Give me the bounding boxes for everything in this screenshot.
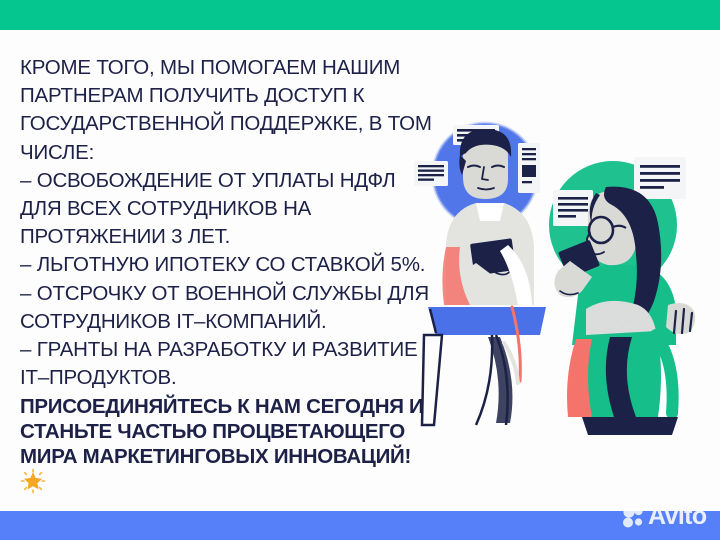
avito-watermark: Avito <box>622 504 707 529</box>
body-line: ГОСУДАРСТВЕННОЙ ПОДДЕРЖКЕ, В ТОМ <box>20 110 440 138</box>
bottom-brand-bar <box>0 511 720 540</box>
top-brand-bar <box>0 0 720 30</box>
cta-line: ПРИСОЕДИНЯЙТЕСЬ К НАМ СЕГОДНЯ И <box>20 394 460 419</box>
body-line: – ГРАНТЫ НА РАЗРАБОТКУ И РАЗВИТИЕ <box>20 336 440 364</box>
body-line: IT–ПРОДУКТОВ. <box>20 364 440 392</box>
body-line: – ОТСРОЧКУ ОТ ВОЕННОЙ СЛУЖБЫ ДЛЯ <box>20 280 440 308</box>
cta-line: МИРА МАРКЕТИНГОВЫХ ИННОВАЦИЙ! <box>20 444 460 469</box>
body-line: ДЛЯ ВСЕХ СОТРУДНИКОВ НА <box>20 195 440 223</box>
body-line: СОТРУДНИКОВ IT–КОМПАНИЙ. <box>20 308 440 336</box>
body-line: КРОМЕ ТОГО, МЫ ПОМОГАЕМ НАШИМ <box>20 54 440 82</box>
glowing-star-icon <box>20 468 46 494</box>
body-copy: КРОМЕ ТОГО, МЫ ПОМОГАЕМ НАШИМ ПАРТНЕРАМ … <box>20 54 440 392</box>
call-to-action-copy: ПРИСОЕДИНЯЙТЕСЬ К НАМ СЕГОДНЯ И СТАНЬТЕ … <box>20 394 460 469</box>
body-line: ПАРТНЕРАМ ПОЛУЧИТЬ ДОСТУП К <box>20 82 440 110</box>
cta-line: СТАНЬТЕ ЧАСТЬЮ ПРОЦВЕТАЮЩЕГО <box>20 419 460 444</box>
body-line: ЧИСЛЕ: <box>20 139 440 167</box>
body-line: – ЛЬГОТНУЮ ИПОТЕКУ СО СТАВКОЙ 5%. <box>20 251 440 279</box>
avito-wordmark: Avito <box>648 504 707 529</box>
advert-image: КРОМЕ ТОГО, МЫ ПОМОГАЕМ НАШИМ ПАРТНЕРАМ … <box>0 0 720 540</box>
avito-dots-icon <box>622 506 644 528</box>
body-line: ПРОТЯЖЕНИИ 3 ЛЕТ. <box>20 223 440 251</box>
woman-figure <box>549 157 695 435</box>
body-line: – ОСВОБОЖДЕНИЕ ОТ УПЛАТЫ НДФЛ <box>20 167 440 195</box>
